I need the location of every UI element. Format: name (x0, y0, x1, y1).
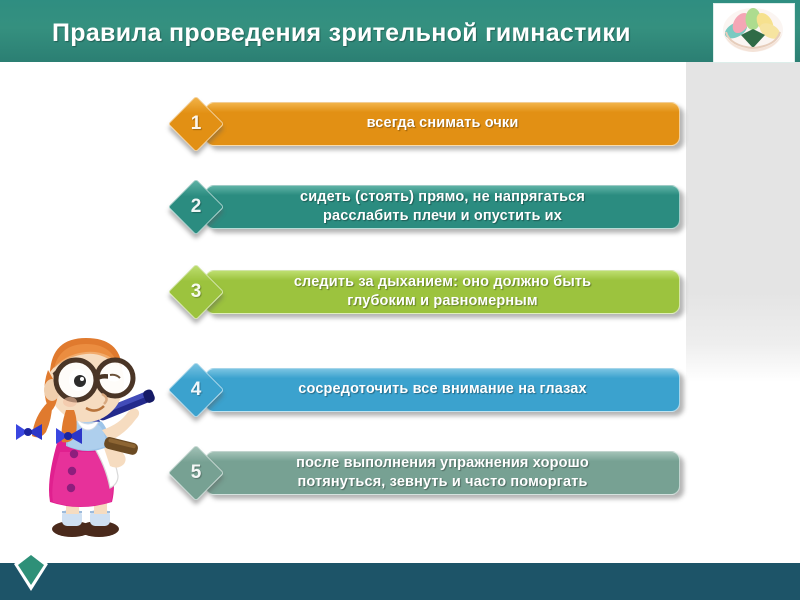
hair-bow-left (16, 424, 42, 440)
rule-number-label: 3 (168, 264, 224, 320)
presentation-slide: Правила проведения зрительной гимнастики… (0, 0, 800, 600)
rule-text: после выполнения упражнения хорошопотяну… (206, 452, 679, 494)
rule-bar: сидеть (стоять) прямо, не напрягатьсярас… (205, 185, 680, 229)
rule-text-line: всегда снимать очки (367, 114, 519, 133)
rule-number-badge: 3 (168, 264, 224, 320)
rule-text: следить за дыханием: оно должно бытьглуб… (206, 271, 679, 313)
rule-text-line: следить за дыханием: оно должно быть (294, 273, 591, 292)
footer-band (0, 563, 800, 600)
page-title: Правила проведения зрительной гимнастики (52, 15, 702, 51)
rule-text-line: сосредоточить все внимание на глазах (298, 380, 586, 399)
rule-number-badge: 5 (168, 445, 224, 501)
rule-bar: всегда снимать очки (205, 102, 680, 146)
rule-number-badge: 1 (168, 96, 224, 152)
rule-number-badge: 2 (168, 179, 224, 235)
rule-text-line: сидеть (стоять) прямо, не напрягаться (300, 188, 585, 207)
rule-row: сидеть (стоять) прямо, не напрягатьсярас… (0, 177, 800, 237)
rule-number-badge: 4 (168, 362, 224, 418)
rule-text: всегда снимать очки (206, 103, 679, 145)
glasses-icon (54, 360, 133, 400)
logo-container (713, 3, 795, 63)
rule-text-line: глубоким и равномерным (347, 292, 538, 311)
rule-row: следить за дыханием: оно должно бытьглуб… (0, 262, 800, 322)
rule-number-label: 1 (168, 96, 224, 152)
rule-text-line: после выполнения упражнения хорошо (296, 454, 589, 473)
rule-number-label: 2 (168, 179, 224, 235)
rule-text-line: расслабить плечи и опустить их (323, 207, 562, 226)
rule-text-line: потянуться, зевнуть и часто поморгать (297, 473, 587, 492)
rule-text: сидеть (стоять) прямо, не напрягатьсярас… (206, 186, 679, 228)
rule-bar: следить за дыханием: оно должно бытьглуб… (205, 270, 680, 314)
rule-number-label: 4 (168, 362, 224, 418)
girl-with-glasses-illustration (14, 332, 166, 538)
rule-number-label: 5 (168, 445, 224, 501)
rule-bar: сосредоточить все внимание на глазах (205, 368, 680, 412)
rule-row: всегда снимать очки1 (0, 94, 800, 154)
flower-in-hands-logo (714, 4, 792, 60)
decorative-diamond (14, 551, 48, 591)
rule-text: сосредоточить все внимание на глазах (206, 369, 679, 411)
rule-bar: после выполнения упражнения хорошопотяну… (205, 451, 680, 495)
